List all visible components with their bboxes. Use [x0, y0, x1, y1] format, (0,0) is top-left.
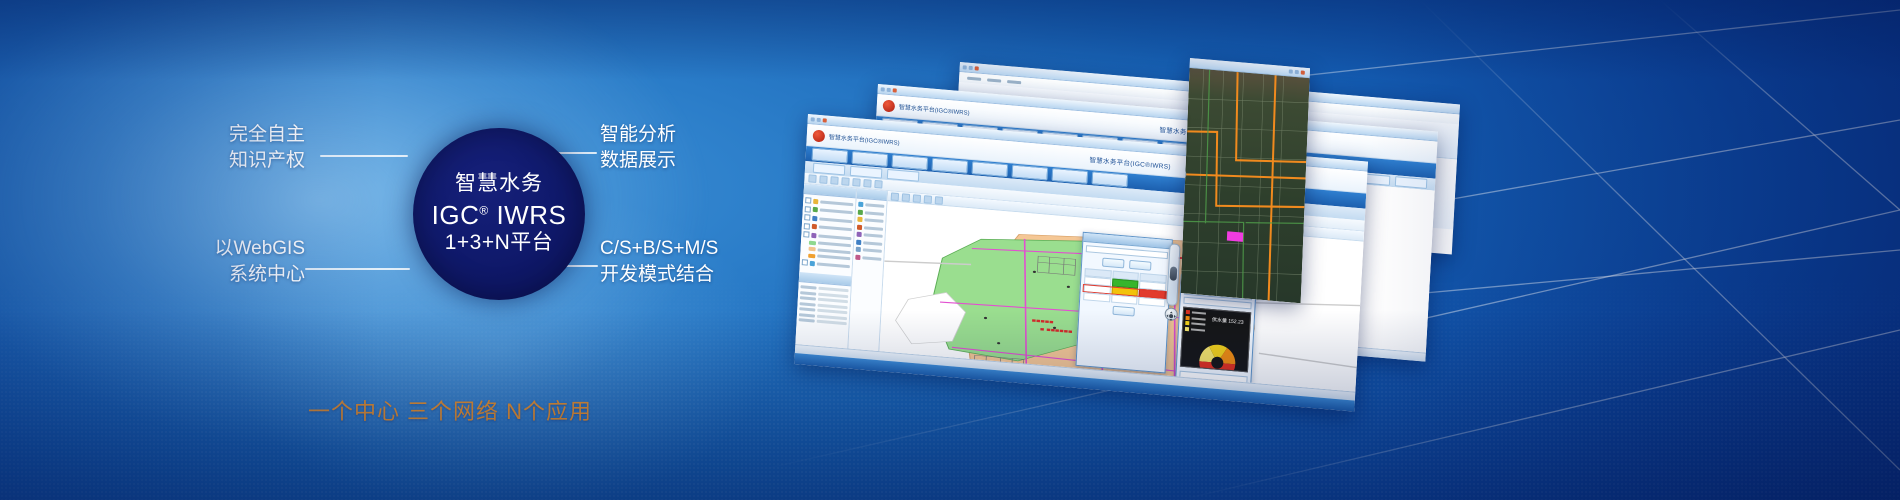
concept-diagram: 完全自主 知识产权 以WebGIS 系统中心 智能分析 数据展示 C/S+B/S…	[0, 0, 800, 500]
hub-circle: 智慧水务 IGC® IWRS 1+3+N平台	[413, 128, 585, 300]
pipe-icon	[858, 202, 863, 207]
layer-icon	[812, 224, 817, 229]
pie-chart-title: 供水量 152.23	[1212, 316, 1244, 326]
toolbox-item[interactable]	[857, 232, 883, 239]
alarm-icon	[855, 254, 860, 259]
map-tool-buffer-icon[interactable]	[913, 194, 921, 203]
legend-swatch-zone	[808, 253, 815, 258]
feature-bottom-right: C/S+B/S+M/S 开发模式结合	[600, 236, 718, 288]
sensor-icon	[856, 239, 861, 244]
feature-top-right-line2: 数据展示	[600, 148, 676, 174]
layer-tree[interactable]	[800, 194, 856, 272]
hub-title: 智慧水务	[455, 172, 543, 197]
window-control-maximize-icon[interactable]	[887, 87, 891, 91]
tool-identify-icon[interactable]	[863, 179, 871, 188]
connector-bottom-left	[305, 268, 410, 270]
scrollbar-thumb[interactable]	[1170, 266, 1178, 281]
legend-swatch-service	[809, 247, 816, 252]
query-submit-button[interactable]	[1102, 258, 1124, 269]
window-control-minimize-icon[interactable]	[811, 117, 815, 121]
pie-chart-legend	[1185, 310, 1206, 332]
toolbox-item[interactable]	[856, 239, 882, 246]
connector-top-left	[320, 155, 408, 157]
feature-bottom-left-line1: 以WebGIS	[215, 238, 305, 259]
toolbox-item[interactable]	[857, 217, 883, 224]
satellite-selection-highlight	[1227, 231, 1243, 242]
hub-product-suffix: IWRS	[496, 200, 566, 230]
tree-node[interactable]	[802, 259, 850, 269]
attribute-row	[799, 318, 847, 325]
feature-top-right: 智能分析 数据展示	[600, 122, 676, 174]
hub-product-name: IGC	[432, 200, 480, 230]
folder-icon	[813, 198, 818, 203]
feature-bottom-right-line1: C/S+B/S+M/S	[600, 238, 718, 259]
application-screens: 智慧水务平台(IGC®IWRS) 智慧水务平台(IGC®IWRS) 智慧水务平台…	[790, 0, 1900, 500]
checkbox-icon[interactable]	[804, 223, 810, 230]
window-control-close-icon[interactable]	[975, 66, 979, 70]
feature-bottom-right-line2: 开发模式结合	[600, 262, 718, 288]
checkbox-icon[interactable]	[802, 259, 808, 266]
query-close-button[interactable]	[1112, 306, 1134, 317]
window-control-minimize-icon[interactable]	[1289, 69, 1293, 73]
query-dialog[interactable]	[1075, 232, 1172, 374]
window-control-close-icon[interactable]	[1301, 70, 1305, 74]
menu-item-file[interactable]	[967, 76, 981, 80]
window-control-minimize-icon[interactable]	[963, 65, 967, 69]
checkbox-icon[interactable]	[804, 214, 810, 221]
valve-icon	[858, 209, 863, 214]
window-control-maximize-icon[interactable]	[817, 117, 821, 121]
window-control-minimize-icon[interactable]	[881, 87, 885, 91]
toolbox-item[interactable]	[858, 202, 884, 209]
satellite-window[interactable]	[1181, 58, 1310, 303]
hub-platform: 1+3+N平台	[445, 231, 554, 256]
checkbox-icon[interactable]	[803, 231, 809, 238]
company-logo-icon	[883, 99, 896, 112]
tool-zoom-in-icon[interactable]	[830, 176, 838, 185]
layer-icon	[813, 207, 818, 212]
feature-bottom-left-line2: 系统中心	[140, 262, 305, 288]
feature-top-left-line2: 知识产权	[160, 148, 305, 174]
layer-icon	[811, 232, 816, 237]
satellite-map-canvas[interactable]	[1181, 68, 1310, 303]
window-control-maximize-icon[interactable]	[1295, 69, 1299, 73]
attribute-table	[796, 282, 850, 328]
map-tool-route-icon[interactable]	[924, 195, 932, 204]
pie-chart	[1193, 335, 1243, 373]
toolbox-item[interactable]	[856, 247, 882, 254]
meter-icon	[857, 217, 862, 222]
brand-label: 智慧水务平台(IGC®IWRS)	[899, 102, 970, 117]
toolbox-item[interactable]	[857, 224, 883, 231]
window-control-maximize-icon[interactable]	[969, 65, 973, 69]
tagline: 一个中心 三个网络 N个应用	[170, 394, 730, 426]
satellite-imagery	[1181, 68, 1310, 303]
layer-icon	[812, 215, 817, 220]
company-logo-icon	[813, 129, 826, 142]
map-pan-pad[interactable]	[1164, 307, 1178, 321]
feature-top-right-line1: 智能分析	[600, 124, 676, 145]
pump-icon	[857, 232, 862, 237]
monitor-dialog-body[interactable]: 供水量 152.23	[1176, 284, 1255, 386]
menu-item-tools[interactable]	[1007, 80, 1021, 84]
toolbox-item[interactable]	[855, 254, 881, 261]
map-tool-select-icon[interactable]	[891, 192, 899, 201]
checkbox-icon[interactable]	[805, 197, 811, 204]
registered-mark-icon: ®	[479, 204, 488, 218]
checkbox-icon[interactable]	[805, 206, 811, 213]
hub-product: IGC® IWRS	[432, 200, 567, 231]
window-control-close-icon[interactable]	[823, 118, 827, 122]
window-control-close-icon[interactable]	[893, 88, 897, 92]
layer-tree-panel[interactable]	[795, 184, 857, 349]
query-dialog-body[interactable]	[1079, 242, 1171, 324]
toolbox-item[interactable]	[858, 209, 884, 216]
toolbox-list[interactable]	[853, 199, 886, 265]
tool-pan-icon[interactable]	[819, 175, 827, 184]
map-tool-query-icon[interactable]	[902, 193, 910, 202]
tool-measure-icon[interactable]	[852, 178, 860, 187]
tool-zoom-out-icon[interactable]	[841, 177, 849, 186]
query-reset-button[interactable]	[1129, 260, 1151, 271]
node-icon	[856, 247, 861, 252]
pie-legend-item	[1185, 326, 1205, 332]
feature-top-left-line1: 完全自主	[229, 124, 305, 145]
tool-print-icon[interactable]	[874, 180, 882, 189]
feature-bottom-left: 以WebGIS 系统中心	[140, 236, 305, 288]
brand-label: 智慧水务平台(IGC®IWRS)	[829, 132, 900, 147]
menu-item-view[interactable]	[987, 78, 1001, 82]
map-tool-label-icon[interactable]	[935, 196, 943, 205]
legend-swatch-supply	[809, 240, 816, 245]
tool-pointer-icon[interactable]	[808, 174, 816, 183]
banner-stage: 完全自主 知识产权 以WebGIS 系统中心 智能分析 数据展示 C/S+B/S…	[0, 0, 1900, 500]
layer-icon	[810, 260, 815, 265]
feature-top-left: 完全自主 知识产权	[160, 122, 305, 174]
pie-chart-panel: 供水量 152.23	[1180, 307, 1251, 373]
hydrant-icon	[857, 224, 862, 229]
